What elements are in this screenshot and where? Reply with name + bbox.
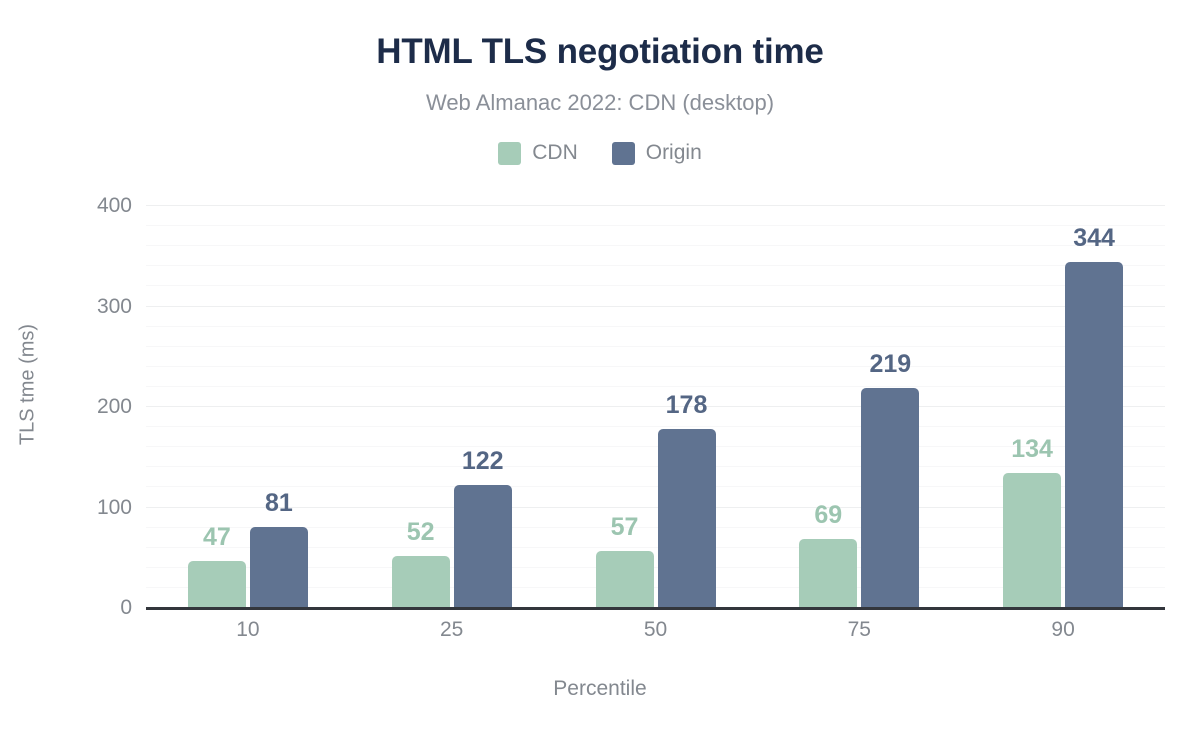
bar-value-label: 69: [787, 501, 869, 530]
bar-group: 57178: [596, 206, 716, 608]
chart-legend: CDNOrigin: [0, 141, 1200, 165]
chart-subtitle: Web Almanac 2022: CDN (desktop): [0, 90, 1200, 116]
legend-swatch-icon: [612, 142, 635, 165]
x-tick-label-50: 50: [644, 618, 667, 642]
x-axis-title: Percentile: [0, 677, 1200, 701]
legend-label: Origin: [646, 141, 702, 165]
legend-item-origin[interactable]: Origin: [612, 141, 702, 165]
y-tick-label: 400: [0, 194, 132, 218]
bar-origin-75[interactable]: [861, 388, 919, 608]
bars-layer: 4781521225717869219134344: [146, 206, 1165, 608]
chart-title: HTML TLS negotiation time: [0, 32, 1200, 72]
bar-value-label: 47: [176, 523, 258, 552]
legend-item-cdn[interactable]: CDN: [498, 141, 578, 165]
plot-area: 4781521225717869219134344: [146, 206, 1165, 608]
x-tick-label-75: 75: [848, 618, 871, 642]
x-tick-label-25: 25: [440, 618, 463, 642]
x-tick-label-90: 90: [1051, 618, 1074, 642]
bar-cdn-90[interactable]: [1003, 473, 1061, 608]
x-axis-ticks: 1025507590: [146, 618, 1165, 652]
y-tick-label: 0: [0, 596, 132, 620]
bar-value-label: 178: [646, 391, 728, 420]
bar-group: 134344: [1003, 206, 1123, 608]
bar-cdn-75[interactable]: [799, 539, 857, 608]
legend-swatch-icon: [498, 142, 521, 165]
y-axis-title: TLS tme (ms): [17, 295, 40, 475]
y-tick-label: 100: [0, 496, 132, 520]
bar-group: 52122: [392, 206, 512, 608]
legend-label: CDN: [532, 141, 578, 165]
bar-origin-10[interactable]: [250, 527, 308, 608]
bar-value-label: 57: [584, 513, 666, 542]
bar-value-label: 134: [991, 435, 1073, 464]
bar-value-label: 122: [442, 447, 524, 476]
bar-origin-90[interactable]: [1065, 262, 1123, 608]
bar-cdn-50[interactable]: [596, 551, 654, 608]
bar-value-label: 219: [849, 350, 931, 379]
bar-cdn-25[interactable]: [392, 556, 450, 608]
chart-container: HTML TLS negotiation time Web Almanac 20…: [0, 0, 1200, 742]
x-tick-label-10: 10: [236, 618, 259, 642]
bar-group: 69219: [799, 206, 919, 608]
bar-value-label: 52: [380, 518, 462, 547]
bar-cdn-10[interactable]: [188, 561, 246, 608]
bar-origin-25[interactable]: [454, 485, 512, 608]
bar-value-label: 81: [238, 489, 320, 518]
bar-value-label: 344: [1053, 224, 1135, 253]
bar-group: 4781: [188, 206, 308, 608]
bar-origin-50[interactable]: [658, 429, 716, 608]
x-axis-line: [146, 607, 1165, 610]
